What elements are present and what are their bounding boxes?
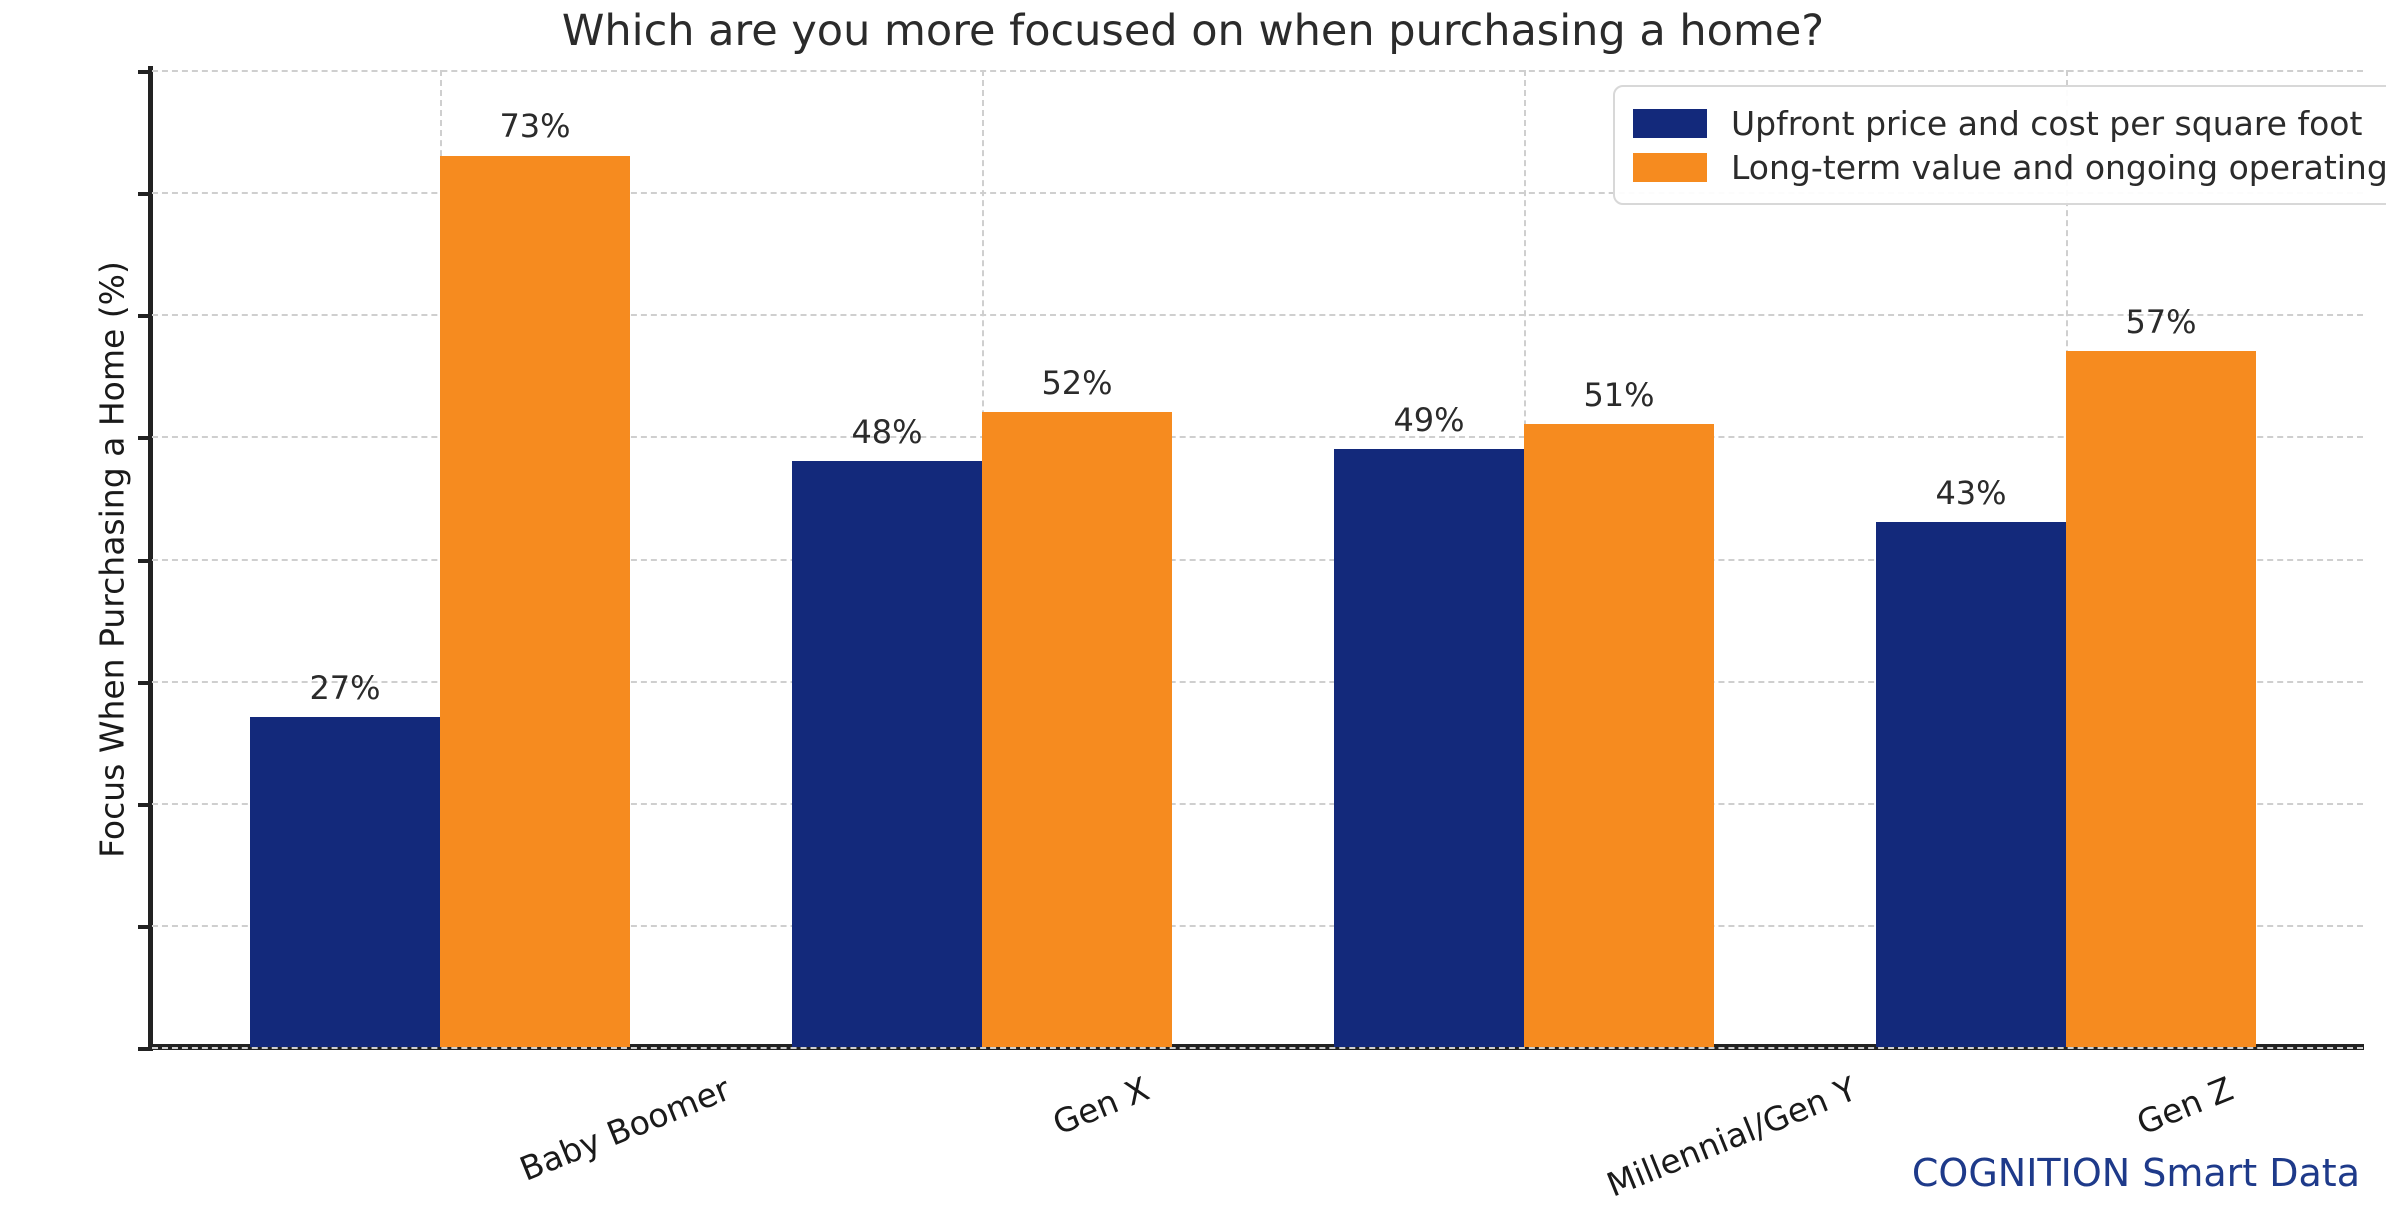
y-tick-mark-10 <box>138 925 152 929</box>
y-tick-mark-40 <box>138 559 152 563</box>
y-tick-mark-30 <box>138 681 152 685</box>
y-tick-mark-60 <box>138 314 152 318</box>
gridline-y-0 <box>152 1047 2363 1049</box>
x-tick-label: Baby Boomer <box>514 1069 735 1189</box>
bar[interactable] <box>792 461 982 1047</box>
y-tick-mark-80 <box>138 70 152 74</box>
bar-value-label: 43% <box>1935 474 2006 512</box>
legend-item-label: Long-term value and ongoing operating co… <box>1731 148 2386 187</box>
bar[interactable] <box>1876 522 2066 1047</box>
bar[interactable] <box>1524 424 1714 1047</box>
bar-value-label: 27% <box>309 669 380 707</box>
legend-color-swatch <box>1633 109 1707 138</box>
bar-value-label: 51% <box>1583 376 1654 414</box>
legend-item[interactable]: Upfront price and cost per square foot <box>1633 101 2386 145</box>
bar-value-label: 52% <box>1041 364 1112 402</box>
y-axis-title: Focus When Purchasing a Home (%) <box>93 0 132 1205</box>
x-tick-label: Millennial/Gen Y <box>1601 1069 1862 1205</box>
chart-figure: Which are you more focused on when purch… <box>0 0 2386 1205</box>
legend-item[interactable]: Long-term value and ongoing operating co… <box>1633 145 2386 189</box>
plot-area: 0%10%20%30%40%50%60%70%80% 27%73%48%52%4… <box>152 70 2363 1047</box>
legend-color-swatch <box>1633 153 1707 182</box>
y-tick-mark-70 <box>138 192 152 196</box>
bar-value-label: 48% <box>851 413 922 451</box>
x-tick-label: Gen X <box>1047 1069 1154 1143</box>
x-tick-label: Gen Z <box>2131 1069 2238 1143</box>
bar-value-label: 57% <box>2125 303 2196 341</box>
chart-legend[interactable]: Upfront price and cost per square footLo… <box>1613 85 2386 205</box>
bar-value-label: 49% <box>1393 401 1464 439</box>
bar[interactable] <box>1334 449 1524 1047</box>
y-tick-mark-20 <box>138 803 152 807</box>
y-tick-mark-0 <box>138 1047 152 1051</box>
bar-value-label: 73% <box>499 107 570 145</box>
page-title: Which are you more focused on when purch… <box>0 6 2386 56</box>
legend-item-label: Upfront price and cost per square foot <box>1731 104 2362 143</box>
gridline-y-80 <box>152 70 2363 72</box>
bar[interactable] <box>440 156 630 1048</box>
bar[interactable] <box>2066 351 2256 1047</box>
bar[interactable] <box>250 717 440 1047</box>
bar[interactable] <box>982 412 1172 1047</box>
y-tick-mark-50 <box>138 436 152 440</box>
watermark-label: COGNITION Smart Data <box>1912 1151 2360 1195</box>
